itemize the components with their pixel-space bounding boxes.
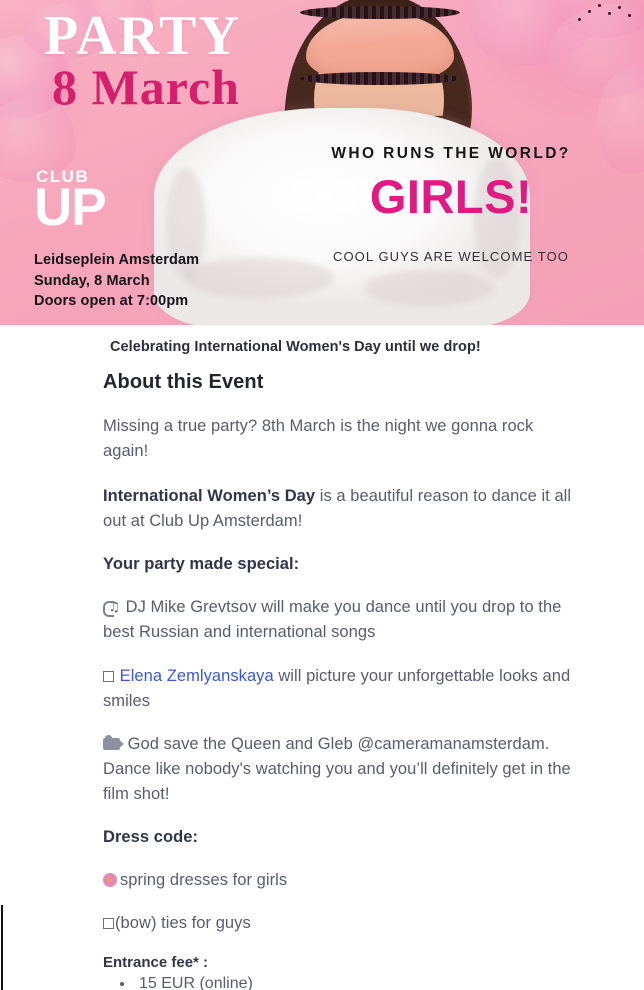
banner-date: 8 March <box>52 62 240 112</box>
dress-code-heading: Dress code: <box>103 825 575 850</box>
missing-glyph-icon <box>103 671 114 682</box>
entrance-fee-heading: Entrance fee* : <box>103 954 644 971</box>
pillow-headline: WHO RUNS THE WORLD? <box>261 145 641 163</box>
sleep-mask-frill-bottom <box>300 72 460 85</box>
about-section-title: About this Event <box>103 371 644 394</box>
paragraph-iwd: International Women’s Day is a beautiful… <box>103 484 575 534</box>
event-page: PARTY 8 March CLUB UP Leidseplein Amster… <box>0 0 644 990</box>
paragraph-intro: Missing a true party? 8th March is the n… <box>103 414 575 464</box>
sleep-mask-frill-top <box>300 6 460 19</box>
venue-details: Leidseplein Amsterdam Sunday, 8 March Do… <box>34 250 199 312</box>
cherry-blossom-icon <box>103 873 117 887</box>
photographer-link[interactable]: Elena Zemlyanskaya <box>120 667 274 685</box>
page-left-rule <box>1 905 3 990</box>
pillow-fold <box>364 270 494 306</box>
club-up-logo: CLUB UP <box>34 168 106 229</box>
event-description: Celebrating International Women's Day un… <box>0 325 644 990</box>
paragraph-photographer: Elena Zemlyanskaya will picture your unf… <box>103 664 575 714</box>
paragraph-dj: DJ Mike Grevtsov will make you dance unt… <box>103 595 575 645</box>
movie-camera-icon <box>103 738 120 750</box>
event-banner-image: PARTY 8 March CLUB UP Leidseplein Amster… <box>0 0 644 325</box>
iwd-bold-text: International Women’s Day <box>103 487 315 505</box>
blossom-stamen-icon <box>588 10 591 13</box>
dress-girls-text: spring dresses for girls <box>120 871 287 889</box>
blossom-stamen-icon <box>598 4 601 7</box>
venue-line-address: Leidseplein Amsterdam <box>34 250 199 271</box>
list-item: 15 EUR (online) <box>135 972 585 990</box>
dress-code-heading-text: Dress code: <box>103 828 198 846</box>
blossom-stamen-icon <box>608 12 611 15</box>
paragraph-cameraman: God save the Queen and Gleb @cameramanam… <box>103 732 575 807</box>
headphones-icon <box>103 601 119 614</box>
special-heading: Your party made special: <box>103 552 575 577</box>
pillow-girls-text: GIRLS! <box>261 172 641 221</box>
event-tagline: Celebrating International Women's Day un… <box>110 339 644 355</box>
venue-line-doors: Doors open at 7:00pm <box>34 291 199 312</box>
logo-up-text: UP <box>34 186 106 229</box>
venue-line-date: Sunday, 8 March <box>34 271 199 292</box>
dj-text: DJ Mike Grevtsov will make you dance unt… <box>103 598 561 641</box>
blossom-stamen-icon <box>618 6 621 9</box>
pillow-subtext: COOL GUYS ARE WELCOME TOO <box>261 249 641 264</box>
blossom-stamen-icon <box>628 14 631 17</box>
pillow-fold <box>184 258 334 298</box>
dress-guys-text: (bow) ties for guys <box>115 914 251 932</box>
entrance-fee-list: 15 EUR (online) 20 EUR (at the door) 45 … <box>135 972 585 990</box>
banner-title: PARTY <box>44 8 241 64</box>
dress-code-girls: spring dresses for girls <box>103 868 575 893</box>
cameraman-text: God save the Queen and Gleb @cameramanam… <box>103 735 571 803</box>
blossom-stamen-icon <box>578 18 581 21</box>
special-heading-text: Your party made special: <box>103 555 299 573</box>
dress-code-guys: (bow) ties for guys <box>103 911 575 936</box>
missing-glyph-icon <box>103 918 114 929</box>
